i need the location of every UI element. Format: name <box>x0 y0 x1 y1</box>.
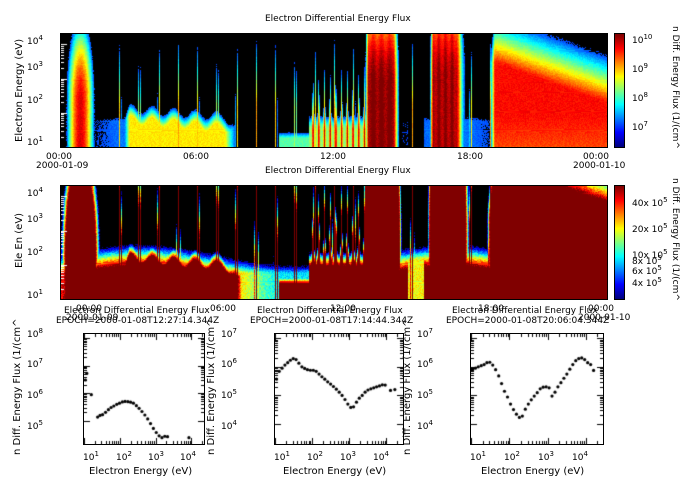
spectrum-1-title: Electron Differential Energy Flux <box>64 306 210 316</box>
spectrum-2-xlabel: Electron Energy (eV) <box>283 466 386 477</box>
top-y-tick-3: 103 <box>27 60 43 73</box>
bottom-y-tick-3: 103 <box>27 212 43 225</box>
bottom-y-tick-4: 104 <box>27 186 43 199</box>
spectrum-1-ytick-6: 106 <box>27 388 43 401</box>
top-colorbar-label: n Diff. Energy Flux (1/(cm^ <box>670 26 680 149</box>
bottom-colorbar-tick-40: 40x 105 <box>632 196 668 209</box>
top-colorbar <box>614 33 625 148</box>
spectrum-1-xlabel: Electron Energy (eV) <box>89 466 192 477</box>
spectrum-1-ytick-5: 105 <box>27 419 43 432</box>
bottom-spectrogram-title: Electron Differential Energy Flux <box>265 166 411 176</box>
spectrum-3-ytick-4: 104 <box>417 419 433 432</box>
top-x-date-0: 2000-01-09 <box>36 161 88 171</box>
figure-canvas: Electron Differential Energy Flux Electr… <box>0 0 697 492</box>
top-spectrogram-ylabel: Electron Energy (eV) <box>14 39 25 142</box>
spectrum-2-ytick-6: 106 <box>221 357 237 370</box>
bottom-colorbar-tick-20: 20x 105 <box>632 222 668 235</box>
spectrum-2-title: Electron Differential Energy Flux <box>257 306 403 316</box>
spectrum-3-ylabel: n Diff. Energy Flux (1/(cm^ <box>402 318 413 455</box>
spectrum-3-xtick-2: 102 <box>504 450 520 463</box>
top-spectrogram-title: Electron Differential Energy Flux <box>265 14 411 24</box>
spectrum-1-xtick-4: 104 <box>180 450 196 463</box>
spectrum-3-title: Electron Differential Energy Flux <box>452 306 598 316</box>
spectrum-3-xtick-3: 103 <box>538 450 554 463</box>
top-y-tick-4: 104 <box>27 34 43 47</box>
spectrum-2-xtick-1: 101 <box>274 450 290 463</box>
bottom-spectrogram-plot <box>60 185 608 300</box>
bottom-colorbar-tick-4: 4x 105 <box>632 276 662 289</box>
top-x-tick-1: 06:00 <box>183 152 209 162</box>
spectrum-3-xlabel: Electron Energy (eV) <box>481 466 584 477</box>
top-spectrogram-plot <box>60 33 608 148</box>
spectrum-3-ytick-7: 107 <box>417 327 433 340</box>
top-y-tick-2: 102 <box>27 93 43 106</box>
spectrum-3-xtick-4: 104 <box>572 450 588 463</box>
spectrum-1-xtick-2: 102 <box>116 450 132 463</box>
spectrum-2-xtick-4: 104 <box>373 450 389 463</box>
spectrum-3-xtick-1: 101 <box>470 450 486 463</box>
bottom-y-tick-1: 101 <box>27 288 43 301</box>
top-colorbar-tick-8: 108 <box>632 91 648 104</box>
top-x-tick-3: 18:00 <box>457 152 483 162</box>
top-y-tick-1: 101 <box>27 135 43 148</box>
spectrum-1-xtick-3: 103 <box>148 450 164 463</box>
spectrum-1-ylabel: n Diff. Energy Flux (1/(cm^ <box>12 318 23 455</box>
spectrum-2-ytick-4: 104 <box>221 419 237 432</box>
spectrum-1-subtitle: EPOCH=2000-01-08T12:27:14.344Z <box>56 316 219 326</box>
spectrum-2-xtick-2: 102 <box>307 450 323 463</box>
spectrum-3-plot <box>470 333 604 445</box>
spectrum-3-ytick-6: 106 <box>417 357 433 370</box>
spectrum-2-ylabel: n Diff. Energy Flux (1/(cm^ <box>206 318 217 455</box>
spectrum-2-xtick-3: 103 <box>340 450 356 463</box>
bottom-y-tick-2: 102 <box>27 245 43 258</box>
top-x-date-4: 2000-01-10 <box>573 161 625 171</box>
bottom-colorbar-label: n Diff. Energy Flux (1/(cm^ <box>670 178 680 301</box>
spectrum-3-ytick-5: 105 <box>417 388 433 401</box>
bottom-colorbar <box>614 185 625 300</box>
top-colorbar-tick-10: 1010 <box>632 33 652 46</box>
spectrum-2-plot <box>274 333 404 445</box>
top-x-tick-2: 12:00 <box>320 152 346 162</box>
spectrum-3-subtitle: EPOCH=2000-01-08T20:06:04.344Z <box>446 316 609 326</box>
bottom-x-tick-1: 06:00 <box>210 304 236 314</box>
spectrum-1-plot <box>83 333 205 445</box>
spectrum-2-ytick-7: 107 <box>221 327 237 340</box>
spectrum-2-subtitle: EPOCH=2000-01-08T17:14:44.344Z <box>250 316 413 326</box>
spectrum-1-ytick-7: 107 <box>27 357 43 370</box>
top-colorbar-tick-7: 107 <box>632 120 648 133</box>
top-colorbar-tick-9: 109 <box>632 62 648 75</box>
bottom-spectrogram-ylabel: Ele En (eV) <box>14 213 25 268</box>
spectrum-2-ytick-5: 105 <box>221 388 237 401</box>
spectrum-1-ytick-8: 108 <box>27 327 43 340</box>
spectrum-1-xtick-1: 101 <box>83 450 99 463</box>
